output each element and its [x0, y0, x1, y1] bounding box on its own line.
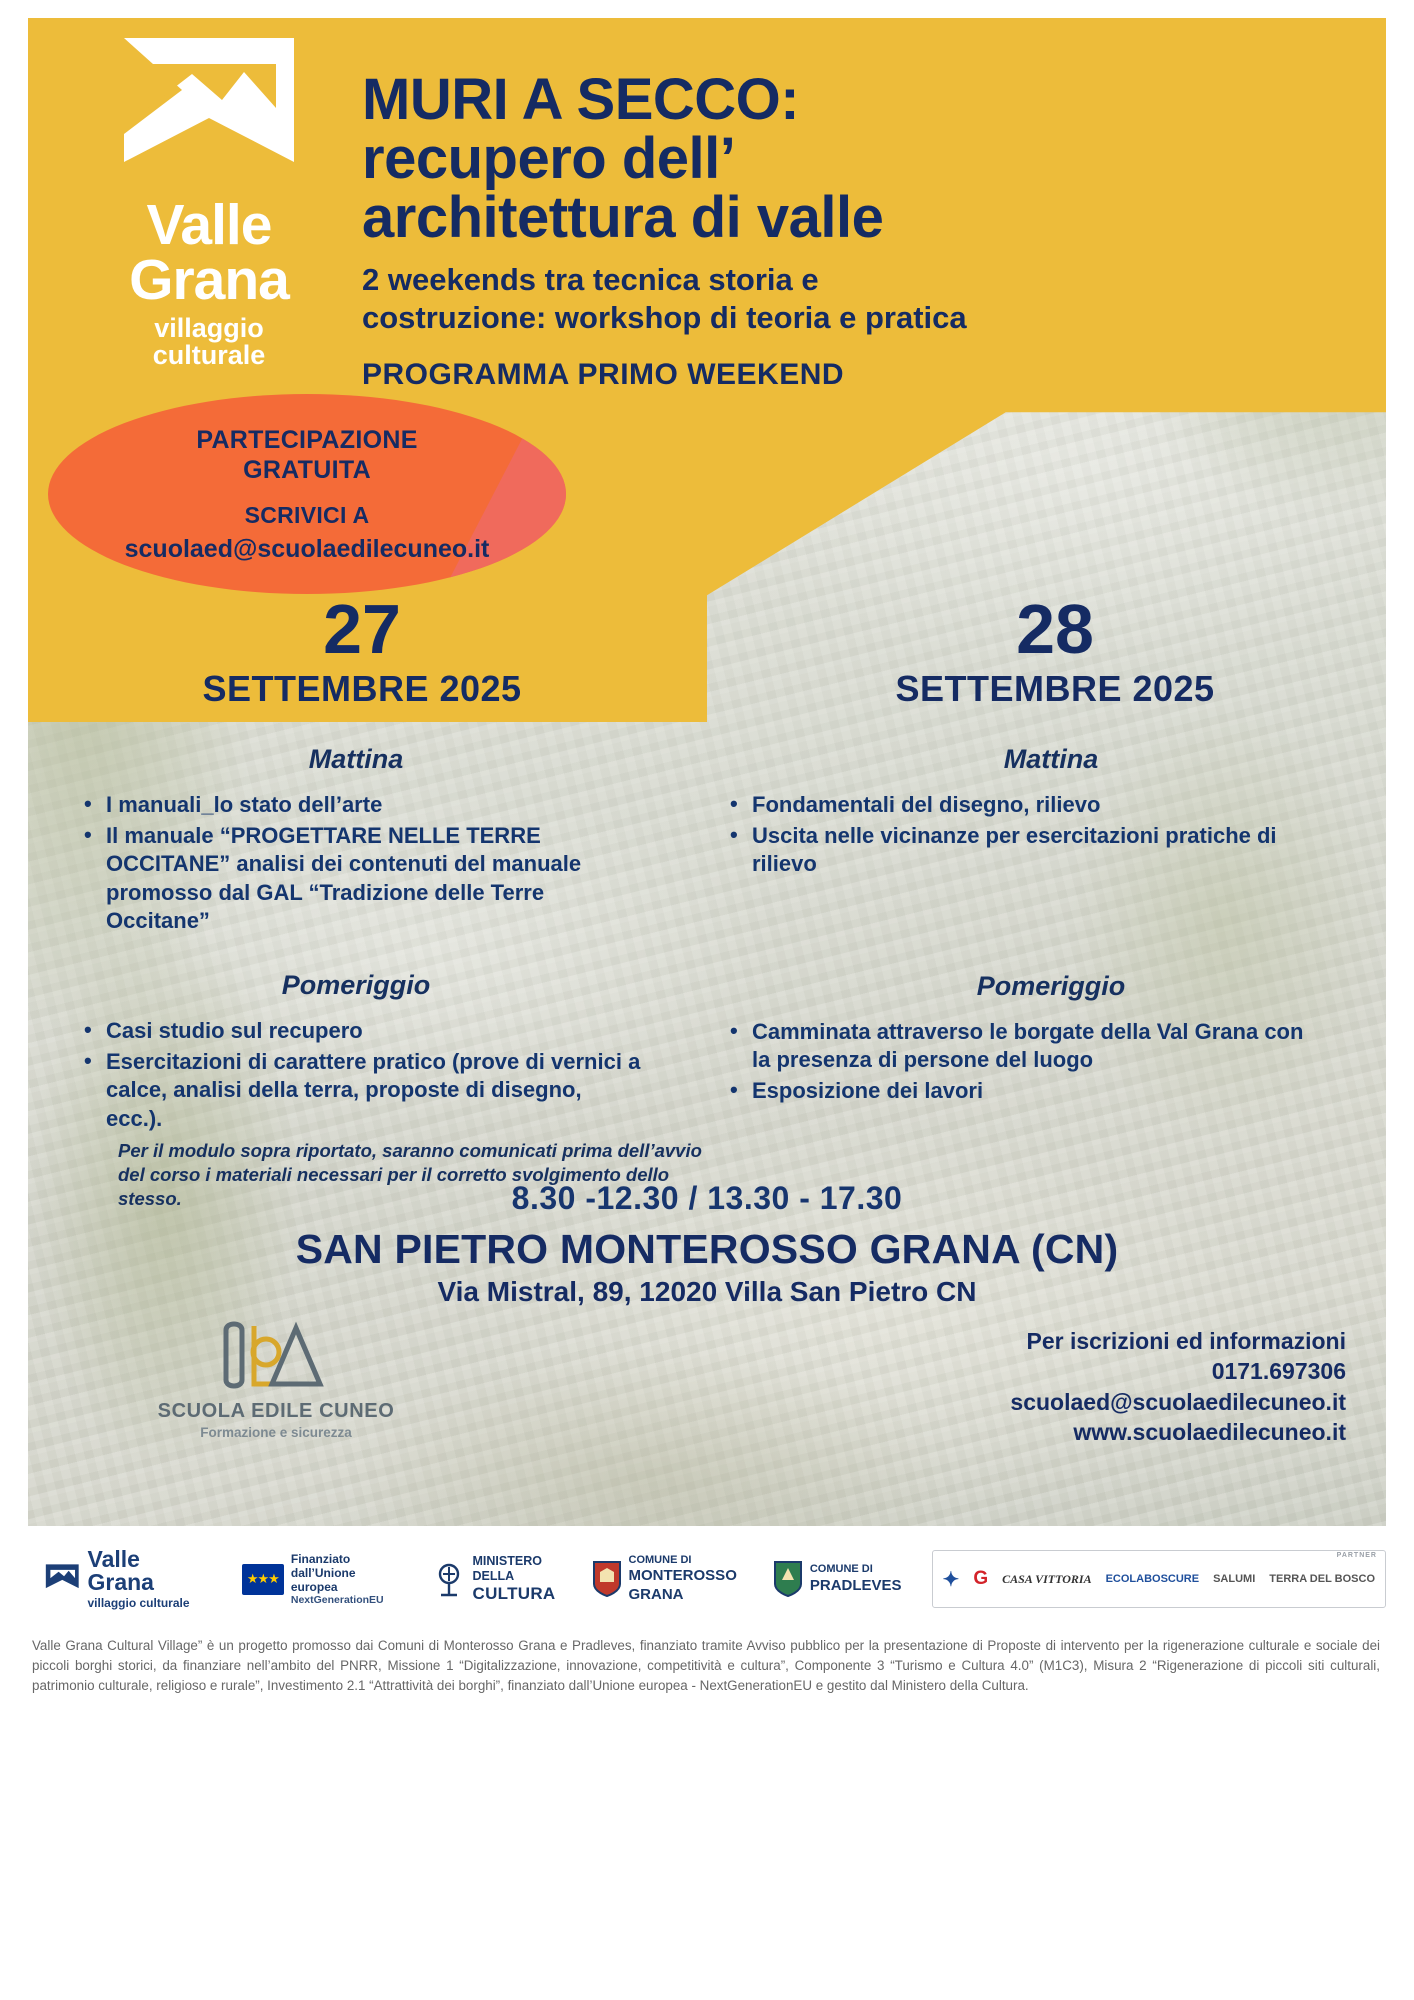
morning-items-27: I manuali_lo stato dell’arte Il manuale … — [80, 791, 642, 936]
partner-comune-monterosso-grana: COMUNE DI MONTEROSSO GRANA — [592, 1554, 737, 1604]
eu-text-line3: NextGenerationEU — [291, 1594, 396, 1606]
comune1-line3: GRANA — [629, 1586, 737, 1604]
scuola-edile-icon — [220, 1318, 332, 1392]
sponsor-logo-g: G — [973, 1568, 988, 1590]
poster-title-line1: MURI A SECCO: — [362, 70, 1362, 129]
poster-subtitle-line2: costruzione: workshop di teoria e pratic… — [362, 299, 1362, 336]
logo-subtitle: villaggio culturale — [84, 315, 334, 371]
logo-text-grana: Grana — [84, 253, 334, 308]
list-item: Fondamentali del disegno, rilievo — [726, 791, 1316, 820]
list-item: Esercitazioni di carattere pratico (prov… — [80, 1048, 642, 1134]
morning-label-27: Mattina — [28, 744, 702, 775]
poster-subtitle-line1: 2 weekends tra tecnica storia e — [362, 261, 1362, 298]
scuola-edile-logo: SCUOLA EDILE CUNEO Formazione e sicurezz… — [146, 1318, 406, 1440]
list-item: Esposizione dei lavori — [726, 1077, 1316, 1106]
day-column-27: 27 SETTEMBRE 2025 Mattina I manuali_lo s… — [62, 594, 702, 1211]
scuola-edile-name: SCUOLA EDILE CUNEO — [146, 1400, 406, 1423]
poster-subtitle: 2 weekends tra tecnica storia e costruzi… — [362, 261, 1362, 335]
eu-flag-icon: ★★★ — [242, 1564, 284, 1595]
eu-text-line2: dall’Unione europea — [291, 1566, 396, 1594]
list-item: Il manuale “PROGETTARE NELLE TERRE OCCIT… — [80, 822, 642, 936]
list-item: I manuali_lo stato dell’arte — [80, 791, 642, 820]
day-column-28: 28 SETTEMBRE 2025 Mattina Fondamentali d… — [708, 594, 1356, 1108]
scuola-edile-tagline: Formazione e sicurezza — [146, 1425, 406, 1440]
partner-valle-grana: Valle Grana villaggio culturale — [44, 1548, 202, 1610]
sponsor-logo-casa-vittoria: CASA VITTORIA — [1002, 1572, 1091, 1587]
coat-of-arms-icon — [592, 1560, 622, 1598]
partner-logo-strip: Valle Grana villaggio culturale ★★★ Fina… — [28, 1540, 1386, 1618]
project-disclaimer: Valle Grana Cultural Village” è un proge… — [32, 1636, 1380, 1696]
partner-valle-grana-sub: villaggio culturale — [88, 1596, 202, 1610]
title-block: MURI A SECCO: recupero dell’ architettur… — [362, 70, 1362, 392]
badge-free-line1: PARTECIPAZIONE — [196, 425, 417, 456]
mic-line2: DELLA — [473, 1569, 556, 1584]
mountain-chevron-icon — [118, 34, 300, 194]
mic-line3: CULTURA — [473, 1584, 556, 1604]
morning-label-28: Mattina — [746, 744, 1356, 775]
valle-grana-logo: Valle Grana villaggio culturale — [84, 34, 334, 370]
partner-comune-pradleves: COMUNE DI PRADLEVES — [773, 1560, 902, 1598]
program-heading: PROGRAMMA PRIMO WEEKEND — [362, 358, 1362, 392]
poster: Valle Grana villaggio culturale MURI A S… — [28, 18, 1386, 1526]
day-month-28: SETTEMBRE 2025 — [754, 668, 1356, 710]
comune2-line1: COMUNE DI — [810, 1563, 902, 1576]
list-item: Uscita nelle vicinanze per esercitazioni… — [726, 822, 1316, 879]
course-hours: 8.30 -12.30 / 13.30 - 17.30 — [28, 1180, 1386, 1217]
sponsor-logo-ecolaboscure: ECOLABOSCURE — [1106, 1573, 1200, 1585]
comune2-line2: PRADLEVES — [810, 1577, 902, 1595]
sponsor-logo-terra-del-bosco: TERRA DEL BOSCO — [1269, 1573, 1375, 1585]
day-month-27: SETTEMBRE 2025 — [28, 668, 702, 710]
free-participation-badge: PARTECIPAZIONE GRATUITA SCRIVICI A scuol… — [48, 394, 566, 594]
materials-note-line1: Per il modulo sopra riportato, saranno c… — [118, 1139, 702, 1163]
day-number-27: 27 — [28, 594, 702, 664]
badge-email-link[interactable]: scuolaed@scuolaedilecuneo.it — [125, 535, 490, 564]
venue-address: Via Mistral, 89, 12020 Villa San Pietro … — [28, 1276, 1386, 1308]
poster-title-line2: recupero dell’ — [362, 129, 1362, 188]
list-item: Camminata attraverso le borgate della Va… — [726, 1018, 1316, 1075]
contact-block: Per iscrizioni ed informazioni 0171.6973… — [1010, 1326, 1346, 1447]
contact-email[interactable]: scuolaed@scuolaedilecuneo.it — [1010, 1387, 1346, 1417]
morning-items-28: Fondamentali del disegno, rilievo Uscita… — [726, 791, 1316, 879]
logo-subtitle-line2: culturale — [84, 342, 334, 370]
comune1-line2: MONTEROSSO — [629, 1567, 737, 1585]
partner-valle-grana-name: Valle Grana — [88, 1548, 202, 1594]
afternoon-items-27: Casi studio sul recupero Esercitazioni d… — [80, 1017, 642, 1133]
sponsor-star-icon: ✦ — [943, 1567, 960, 1592]
sponsor-logo-salumi: SALUMI — [1213, 1573, 1255, 1585]
list-item: Casi studio sul recupero — [80, 1017, 642, 1046]
badge-text: PARTECIPAZIONE GRATUITA SCRIVICI A scuol… — [48, 394, 566, 594]
contact-phone[interactable]: 0171.697306 — [1010, 1356, 1346, 1386]
logo-text-valle: Valle — [84, 198, 334, 253]
coat-of-arms-icon — [773, 1560, 803, 1598]
afternoon-label-28: Pomeriggio — [746, 971, 1356, 1002]
mic-line1: MINISTERO — [473, 1554, 556, 1569]
badge-free-line2: GRATUITA — [243, 455, 371, 486]
contact-website[interactable]: www.scuolaedilecuneo.it — [1010, 1417, 1346, 1447]
badge-write-to: SCRIVICI A — [245, 502, 370, 529]
venue-name: SAN PIETRO MONTEROSSO GRANA (CN) — [28, 1226, 1386, 1273]
ministry-emblem-icon — [432, 1561, 466, 1597]
partner-ministero-cultura: MINISTERO DELLA CULTURA — [432, 1554, 556, 1604]
sponsor-logos-box: PARTNER ✦ G CASA VITTORIA ECOLABOSCURE S… — [932, 1550, 1386, 1608]
afternoon-label-27: Pomeriggio — [28, 970, 702, 1001]
logo-subtitle-line1: villaggio — [84, 315, 334, 343]
afternoon-items-28: Camminata attraverso le borgate della Va… — [726, 1018, 1316, 1106]
eu-text-line1: Finanziato — [291, 1552, 396, 1566]
mountain-chevron-icon — [44, 1562, 81, 1596]
sponsor-box-label: PARTNER — [1337, 1552, 1377, 1559]
day-number-28: 28 — [754, 594, 1356, 664]
partner-european-union: ★★★ Finanziato dall’Unione europea NextG… — [242, 1552, 396, 1607]
contact-title: Per iscrizioni ed informazioni — [1010, 1326, 1346, 1356]
poster-title-line3: architettura di valle — [362, 188, 1362, 247]
comune1-line1: COMUNE DI — [629, 1554, 737, 1567]
